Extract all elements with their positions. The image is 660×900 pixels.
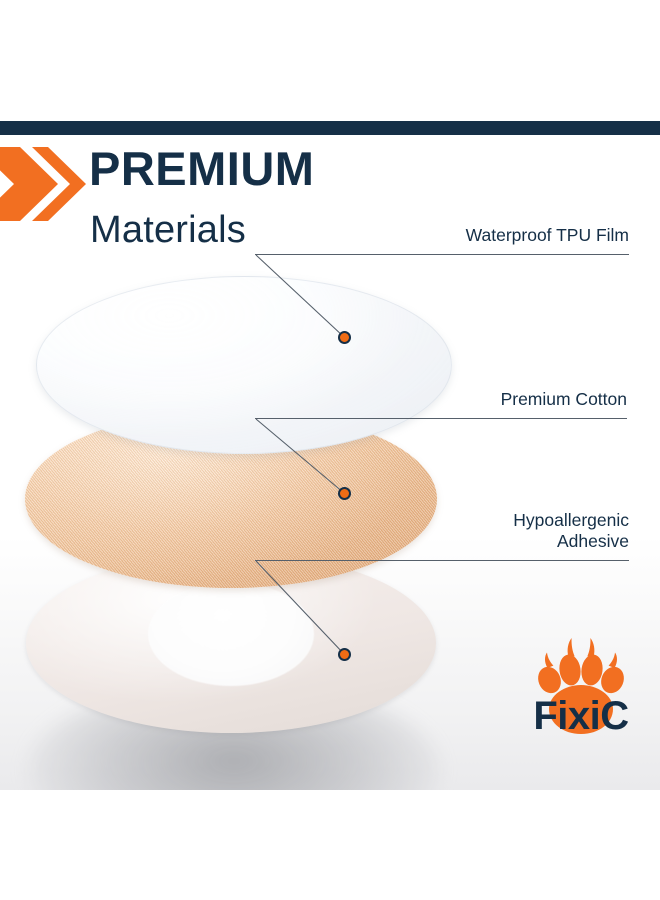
callout-dot-adhesive — [338, 648, 351, 661]
brand-wordmark: FixiC — [519, 696, 643, 736]
infographic-page: PREMIUM Materials Waterproof TPU Film Pr… — [0, 0, 660, 900]
content-panel: PREMIUM Materials Waterproof TPU Film Pr… — [0, 121, 660, 790]
